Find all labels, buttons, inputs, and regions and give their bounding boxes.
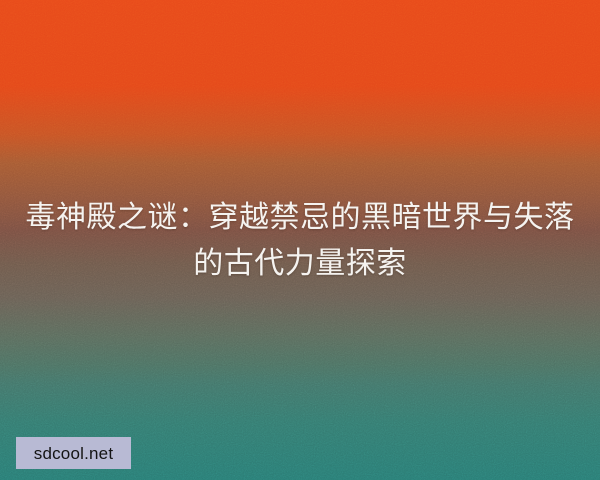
watermark-badge: sdcool.net (16, 437, 131, 469)
cover-image-canvas: 毒神殿之谜：穿越禁忌的黑暗世界与失落 的古代力量探索 sdcool.net (0, 0, 600, 480)
page-title-line-2: 的古代力量探索 (22, 241, 578, 287)
page-title: 毒神殿之谜：穿越禁忌的黑暗世界与失落 的古代力量探索 (0, 195, 600, 287)
page-title-line-1: 毒神殿之谜：穿越禁忌的黑暗世界与失落 (22, 195, 578, 241)
watermark-label: sdcool.net (34, 445, 114, 462)
